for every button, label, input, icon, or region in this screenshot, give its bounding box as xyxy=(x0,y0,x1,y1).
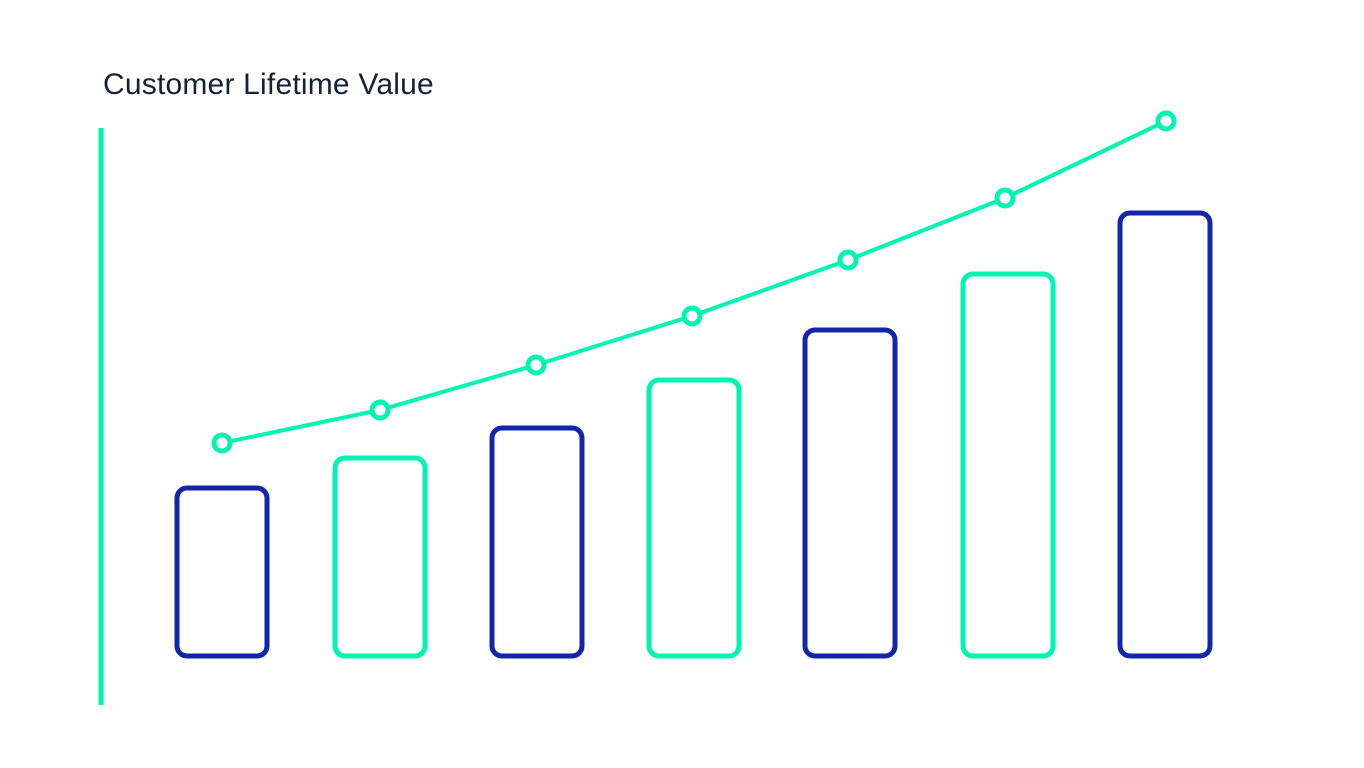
bar-3[interactable] xyxy=(492,428,582,656)
bar-5[interactable] xyxy=(805,330,895,656)
trend-line xyxy=(222,121,1166,443)
trend-marker-7[interactable] xyxy=(1158,113,1174,129)
bar-2[interactable] xyxy=(335,458,425,656)
trend-marker-series xyxy=(214,113,1174,451)
chart-container: Customer Lifetime Value xyxy=(0,0,1364,768)
bar-series xyxy=(177,213,1210,656)
trend-marker-6[interactable] xyxy=(997,190,1013,206)
trend-marker-3[interactable] xyxy=(528,357,544,373)
bar-4[interactable] xyxy=(649,380,739,656)
bar-6[interactable] xyxy=(963,274,1053,656)
bar-7[interactable] xyxy=(1120,213,1210,656)
trend-marker-1[interactable] xyxy=(214,435,230,451)
trend-marker-5[interactable] xyxy=(840,252,856,268)
trend-marker-4[interactable] xyxy=(684,308,700,324)
chart-plot-area xyxy=(0,0,1364,768)
trend-marker-2[interactable] xyxy=(372,402,388,418)
bar-1[interactable] xyxy=(177,488,267,656)
